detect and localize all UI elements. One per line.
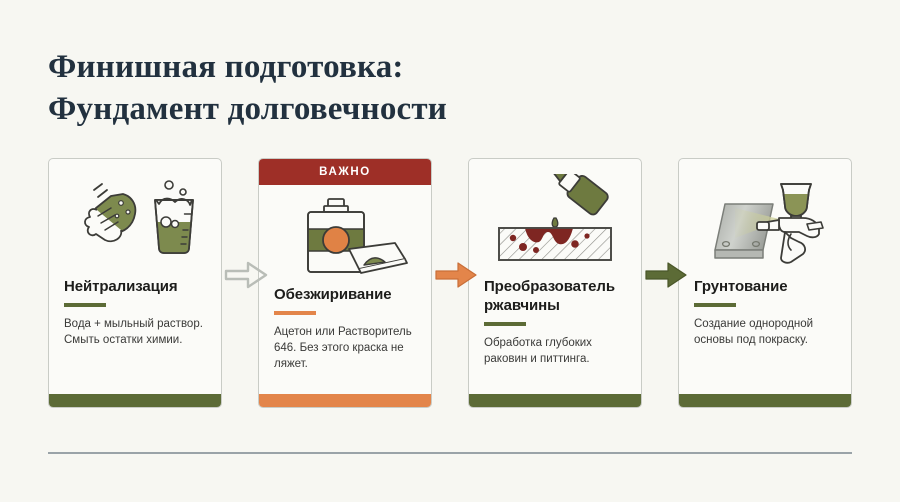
- title-underline: [484, 322, 526, 326]
- card-body: Обезжиривание Ацетон или Растворитель 64…: [259, 285, 431, 394]
- arrow-right-icon-3: [644, 260, 688, 290]
- slide-root: Финишная подготовка: Фундамент долговечн…: [0, 0, 900, 502]
- page-title: Финишная подготовка: Фундамент долговечн…: [48, 46, 748, 130]
- solvent-can-and-cloth-icon: [259, 185, 431, 285]
- card-degreasing[interactable]: ВАЖНО Обезжиривание: [258, 158, 432, 408]
- title-underline: [64, 303, 106, 307]
- card-description: Создание однородной основы под покраску.: [694, 316, 836, 348]
- card-priming[interactable]: Грунтование Создание однородной основы п…: [678, 158, 852, 408]
- card-footer-bar: [49, 394, 221, 407]
- card-neutralization[interactable]: Нейтрализация Вода + мыльный раствор. См…: [48, 158, 222, 408]
- process-cards: Нейтрализация Вода + мыльный раствор. См…: [48, 158, 852, 408]
- title-line-2: Фундамент долговечности: [48, 88, 748, 130]
- dropper-bottle-on-rusted-metal-icon: [469, 159, 641, 277]
- status-badge: ВАЖНО: [259, 159, 431, 185]
- card-title: Преобразователь ржавчины: [484, 277, 626, 315]
- arrow-right-icon-2: [434, 260, 478, 290]
- spray-gun-and-panel-icon: [679, 159, 851, 277]
- card-title: Обезжиривание: [274, 285, 416, 304]
- arrow-right-icon-1: [224, 260, 268, 290]
- title-underline: [694, 303, 736, 307]
- title-underline: [274, 311, 316, 315]
- card-description: Ацетон или Растворитель 646. Без этого к…: [274, 324, 416, 372]
- card-body: Нейтрализация Вода + мыльный раствор. См…: [49, 277, 221, 394]
- card-footer-bar: [259, 394, 431, 407]
- card-body: Грунтование Создание однородной основы п…: [679, 277, 851, 394]
- card-description: Вода + мыльный раствор. Смыть остатки хи…: [64, 316, 206, 348]
- sponge-and-beaker-icon: [49, 159, 221, 277]
- card-title: Нейтрализация: [64, 277, 206, 296]
- card-body: Преобразователь ржавчины Обработка глубо…: [469, 277, 641, 394]
- bottom-divider: [48, 452, 852, 454]
- card-footer-bar: [469, 394, 641, 407]
- card-title: Грунтование: [694, 277, 836, 296]
- card-description: Обработка глубоких раковин и питтинга.: [484, 335, 626, 367]
- card-footer-bar: [679, 394, 851, 407]
- card-rust-converter[interactable]: Преобразователь ржавчины Обработка глубо…: [468, 158, 642, 408]
- title-line-1: Финишная подготовка:: [48, 46, 748, 88]
